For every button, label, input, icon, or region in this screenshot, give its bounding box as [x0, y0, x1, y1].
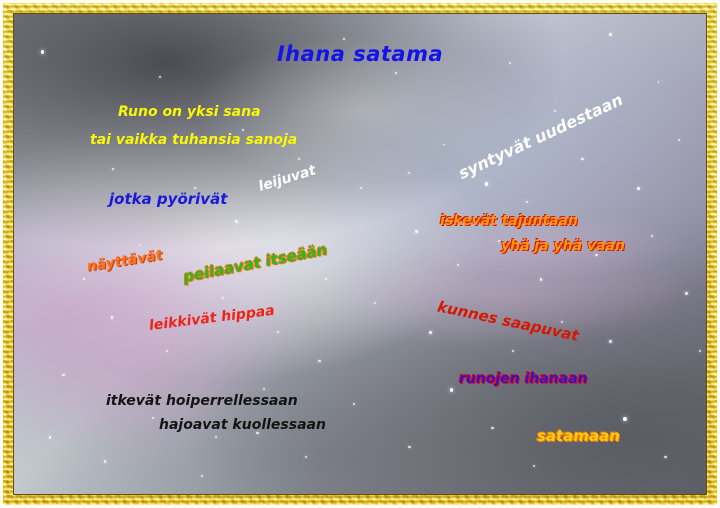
poem-line-8: iskevät tajuntaan: [440, 214, 578, 228]
page-title: Ihana satama: [14, 44, 706, 65]
star-dot: [595, 254, 597, 256]
star-dot: [443, 144, 445, 146]
star-dot: [343, 38, 345, 40]
star-dot: [485, 182, 489, 186]
poem-line-9: yhä ja yhä vaan: [501, 239, 625, 253]
star-dot: [637, 187, 640, 190]
star-dot: [263, 388, 265, 390]
star-dot: [166, 350, 168, 352]
star-dot: [581, 158, 583, 160]
poem-line-1: Runo on yksi sana: [118, 105, 261, 119]
star-dot: [491, 427, 493, 429]
star-dot: [408, 446, 410, 448]
star-dot: [658, 81, 660, 83]
star-dot: [159, 76, 161, 78]
star-dot: [651, 235, 653, 237]
poem-line-14: runojen ihanaan: [459, 372, 588, 386]
star-dot: [554, 110, 556, 112]
star-dot: [222, 297, 224, 299]
poem-slide: Ihana satama Runo on yksi sana tai vaikk…: [0, 0, 720, 508]
star-dot: [112, 168, 114, 170]
star-dot: [298, 158, 300, 160]
star-dot: [512, 350, 514, 352]
star-dot: [415, 230, 418, 233]
star-dot: [325, 278, 327, 280]
star-dot: [235, 220, 237, 222]
star-dot: [699, 350, 701, 352]
nebula-background-image: Ihana satama Runo on yksi sana tai vaikk…: [14, 14, 706, 494]
star-dot: [609, 340, 611, 342]
star-dot: [678, 139, 680, 141]
star-dot: [450, 388, 453, 391]
star-dot: [429, 331, 432, 334]
star-dot: [152, 417, 154, 419]
poem-line-15: satamaan: [537, 429, 620, 444]
star-dot: [408, 172, 410, 174]
star-dot: [685, 292, 687, 294]
star-dot: [305, 456, 307, 458]
star-dot: [215, 436, 217, 438]
poem-line-12: itkevät hoiperrellessaan: [106, 394, 298, 408]
star-dot: [83, 278, 85, 280]
star-dot: [526, 201, 528, 203]
star-dot: [318, 360, 320, 362]
star-dot: [139, 244, 141, 246]
star-dot: [540, 278, 543, 281]
poem-line-2: tai vaikka tuhansia sanoja: [90, 133, 297, 147]
star-dot: [201, 475, 203, 477]
star-dot: [277, 331, 279, 333]
poem-line-13: hajoavat kuollessaan: [159, 418, 326, 432]
star-dot: [623, 417, 627, 421]
star-dot: [104, 460, 106, 462]
star-dot: [111, 316, 114, 319]
star-dot: [664, 456, 666, 458]
star-dot: [395, 72, 398, 75]
poem-line-3: jotka pyörivät: [109, 192, 227, 207]
star-dot: [49, 436, 52, 439]
star-dot: [194, 187, 196, 189]
star-dot: [498, 240, 500, 242]
star-dot: [360, 187, 362, 189]
star-dot: [374, 302, 376, 304]
star-dot: [609, 33, 612, 36]
star-dot: [62, 374, 64, 376]
star-dot: [457, 264, 459, 266]
star-dot: [533, 465, 535, 467]
star-dot: [353, 403, 355, 405]
star-dot: [242, 129, 244, 131]
